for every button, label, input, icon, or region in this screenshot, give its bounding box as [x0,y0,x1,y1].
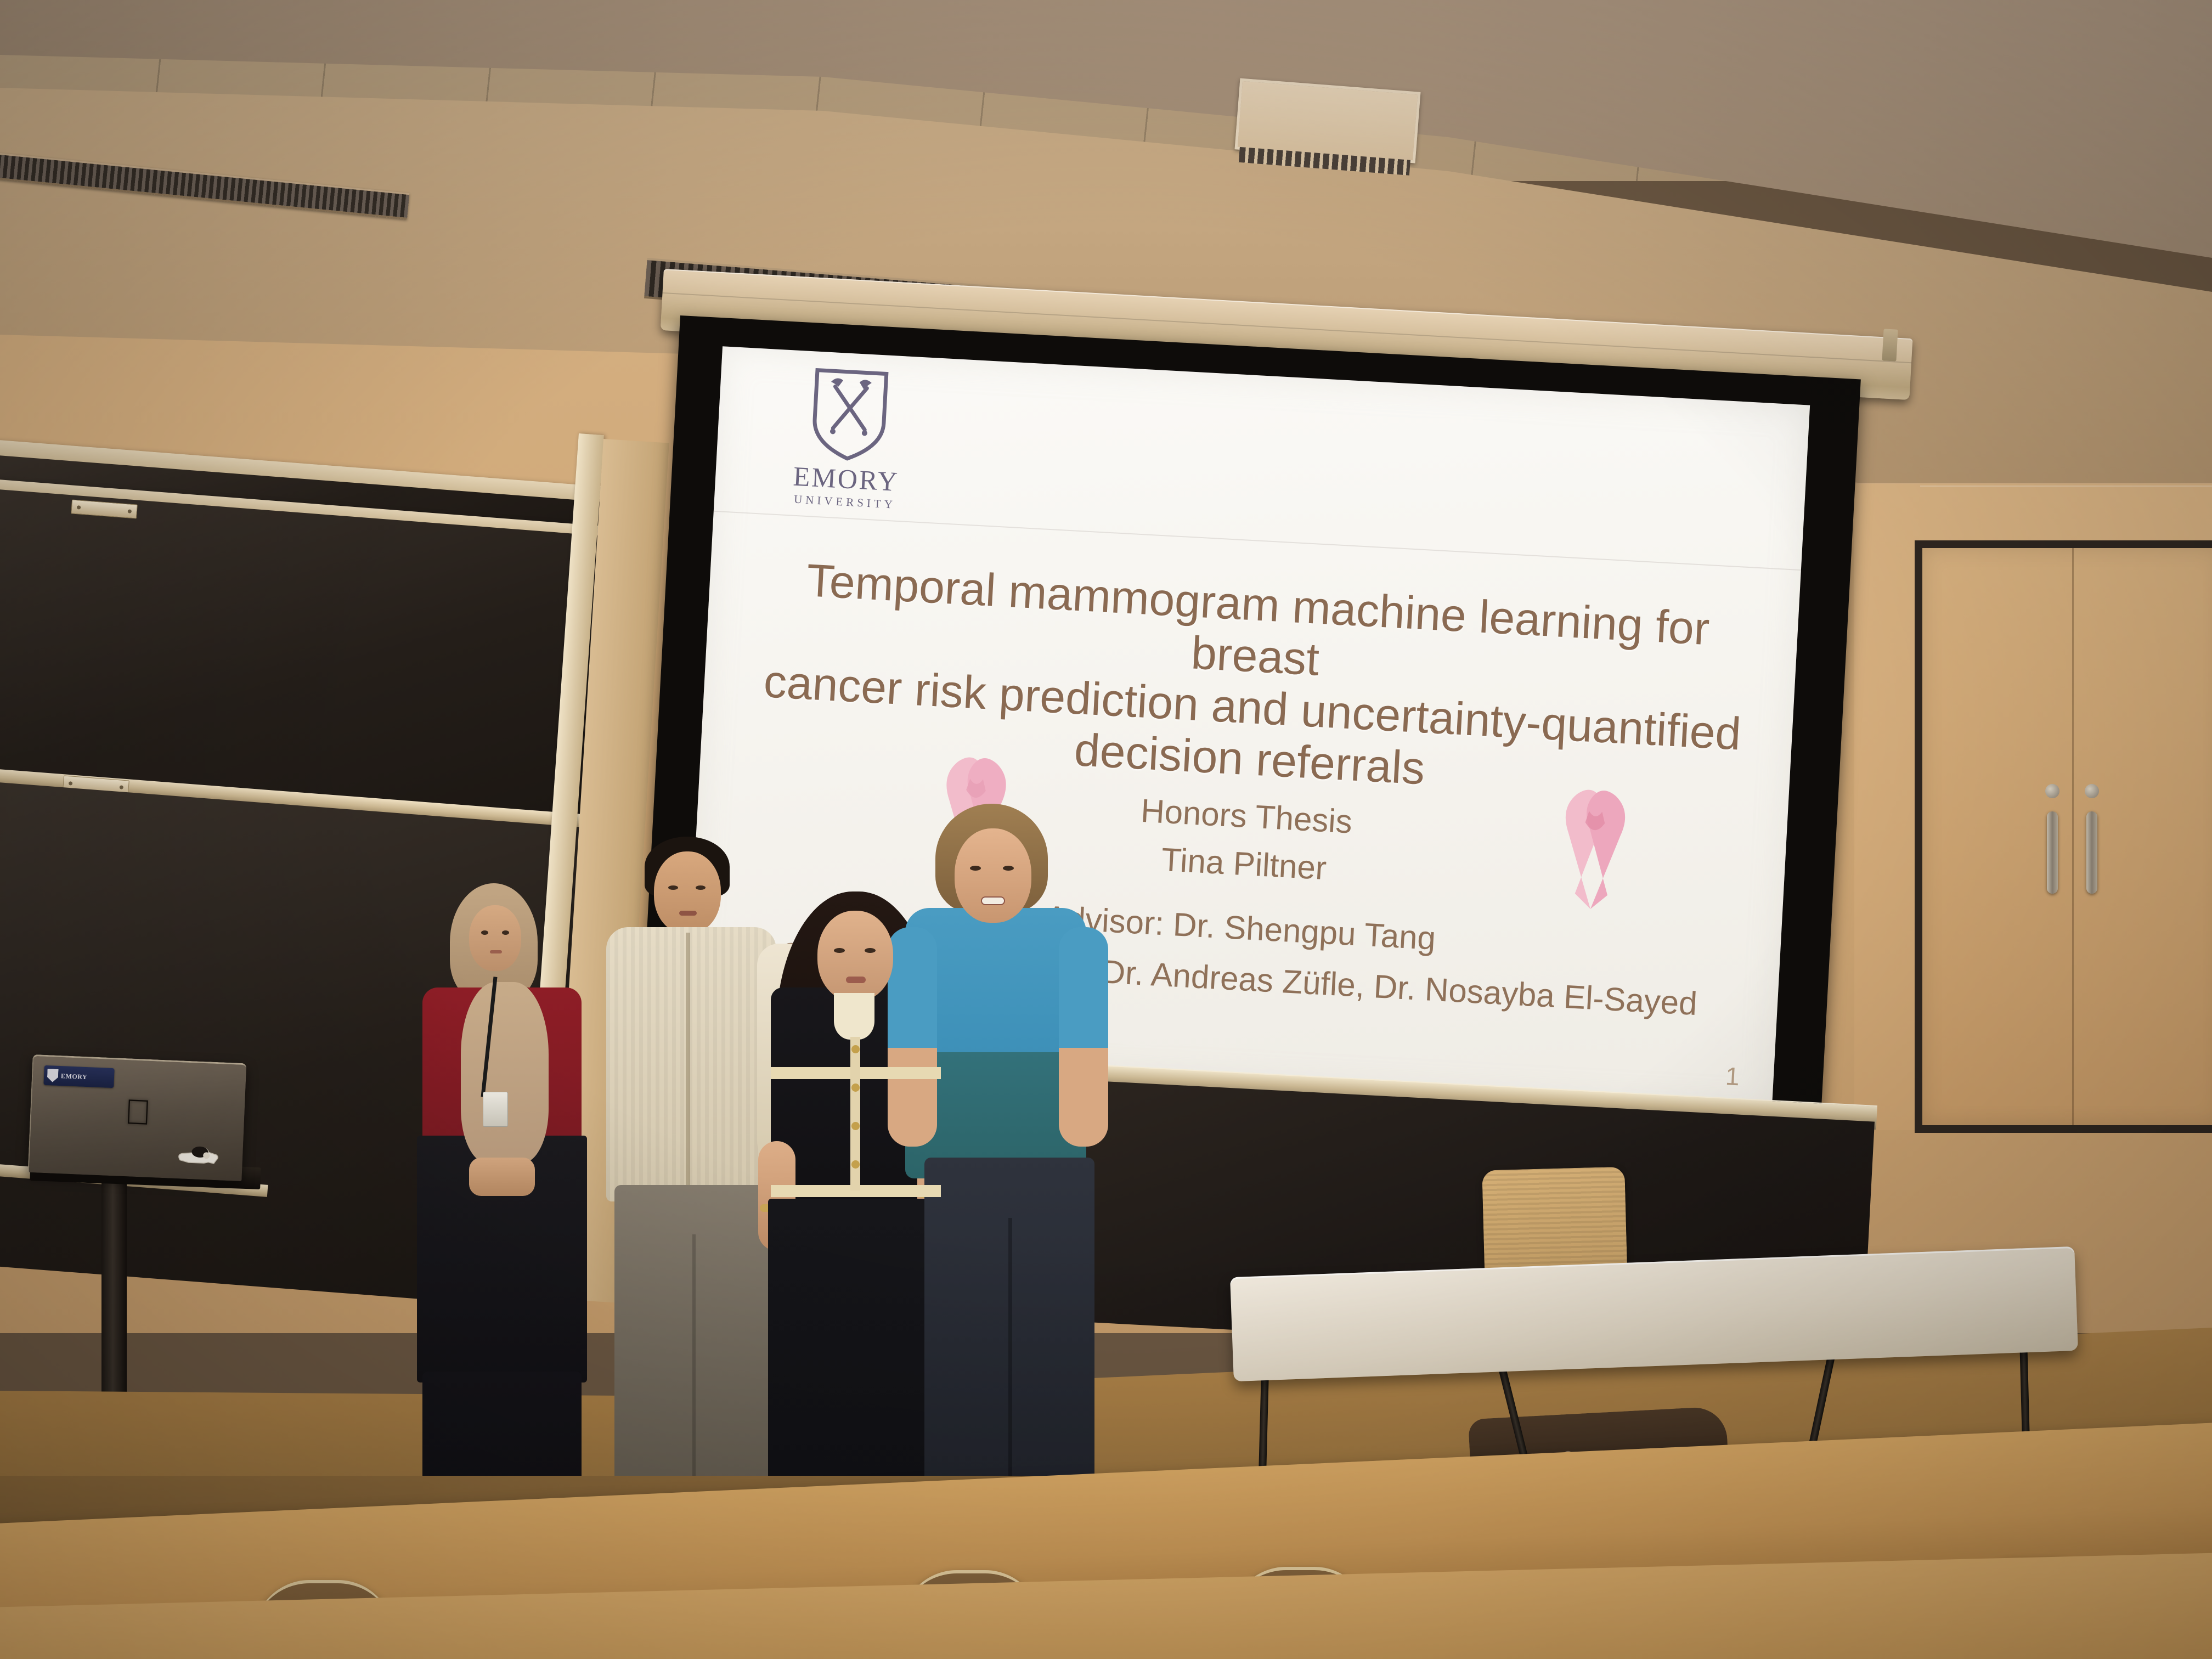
door-split-line [2072,548,2074,1125]
eye-icon [1003,866,1014,871]
collar [834,993,874,1040]
double-doors[interactable] [1915,540,2212,1133]
eye-icon [668,885,678,890]
emory-shield-sticker: EMORY [43,1065,114,1088]
arm-right [1059,927,1108,1147]
mouth-icon [679,911,697,916]
button-icon [851,1084,860,1092]
hijab-drape [461,982,549,1163]
eye-icon [865,948,876,953]
mouth-icon [981,896,1005,905]
mouth-icon [490,950,502,953]
shield-icon [47,1069,59,1082]
button-icon [851,1160,860,1169]
emory-sticker-label: EMORY [61,1072,88,1081]
face [955,828,1031,923]
wall-seam [1920,486,2212,487]
eye-icon [696,885,706,890]
door-lock-icon [2045,784,2059,798]
face [817,911,893,1001]
screen-housing-endcap [1882,329,1898,361]
face [469,905,521,971]
door-handle-right[interactable] [2086,811,2097,894]
hvac-vent-icon [1234,78,1420,163]
eye-icon [502,930,509,935]
shirt-placket [686,933,690,1196]
eye-icon [834,948,845,953]
button-icon [851,1045,860,1053]
button-icon [851,1122,860,1130]
badge [483,1092,508,1127]
mouth-icon [846,977,866,983]
emory-logo-name: EMORY [774,461,918,496]
emory-logo: EMORY UNIVERSITY [774,364,924,503]
lecture-hall-photo: EMORY  [0,0,2212,1659]
slide-page-number: 1 [1725,1061,1740,1091]
door-lock-icon [2085,784,2099,798]
face [654,851,721,934]
door-handle-left[interactable] [2047,811,2058,894]
dog-sticker [176,1138,222,1166]
eye-icon [481,930,488,935]
emory-shield-icon [806,365,893,464]
eye-icon [970,866,981,871]
arm-left [888,927,937,1147]
laptop[interactable]: EMORY  [28,1054,247,1181]
slide-title: Temporal mammogram machine learning for … [750,552,1758,812]
button-up-shirt [606,927,776,1201]
apple-logo-icon:  [121,1096,155,1134]
hands [469,1158,535,1196]
